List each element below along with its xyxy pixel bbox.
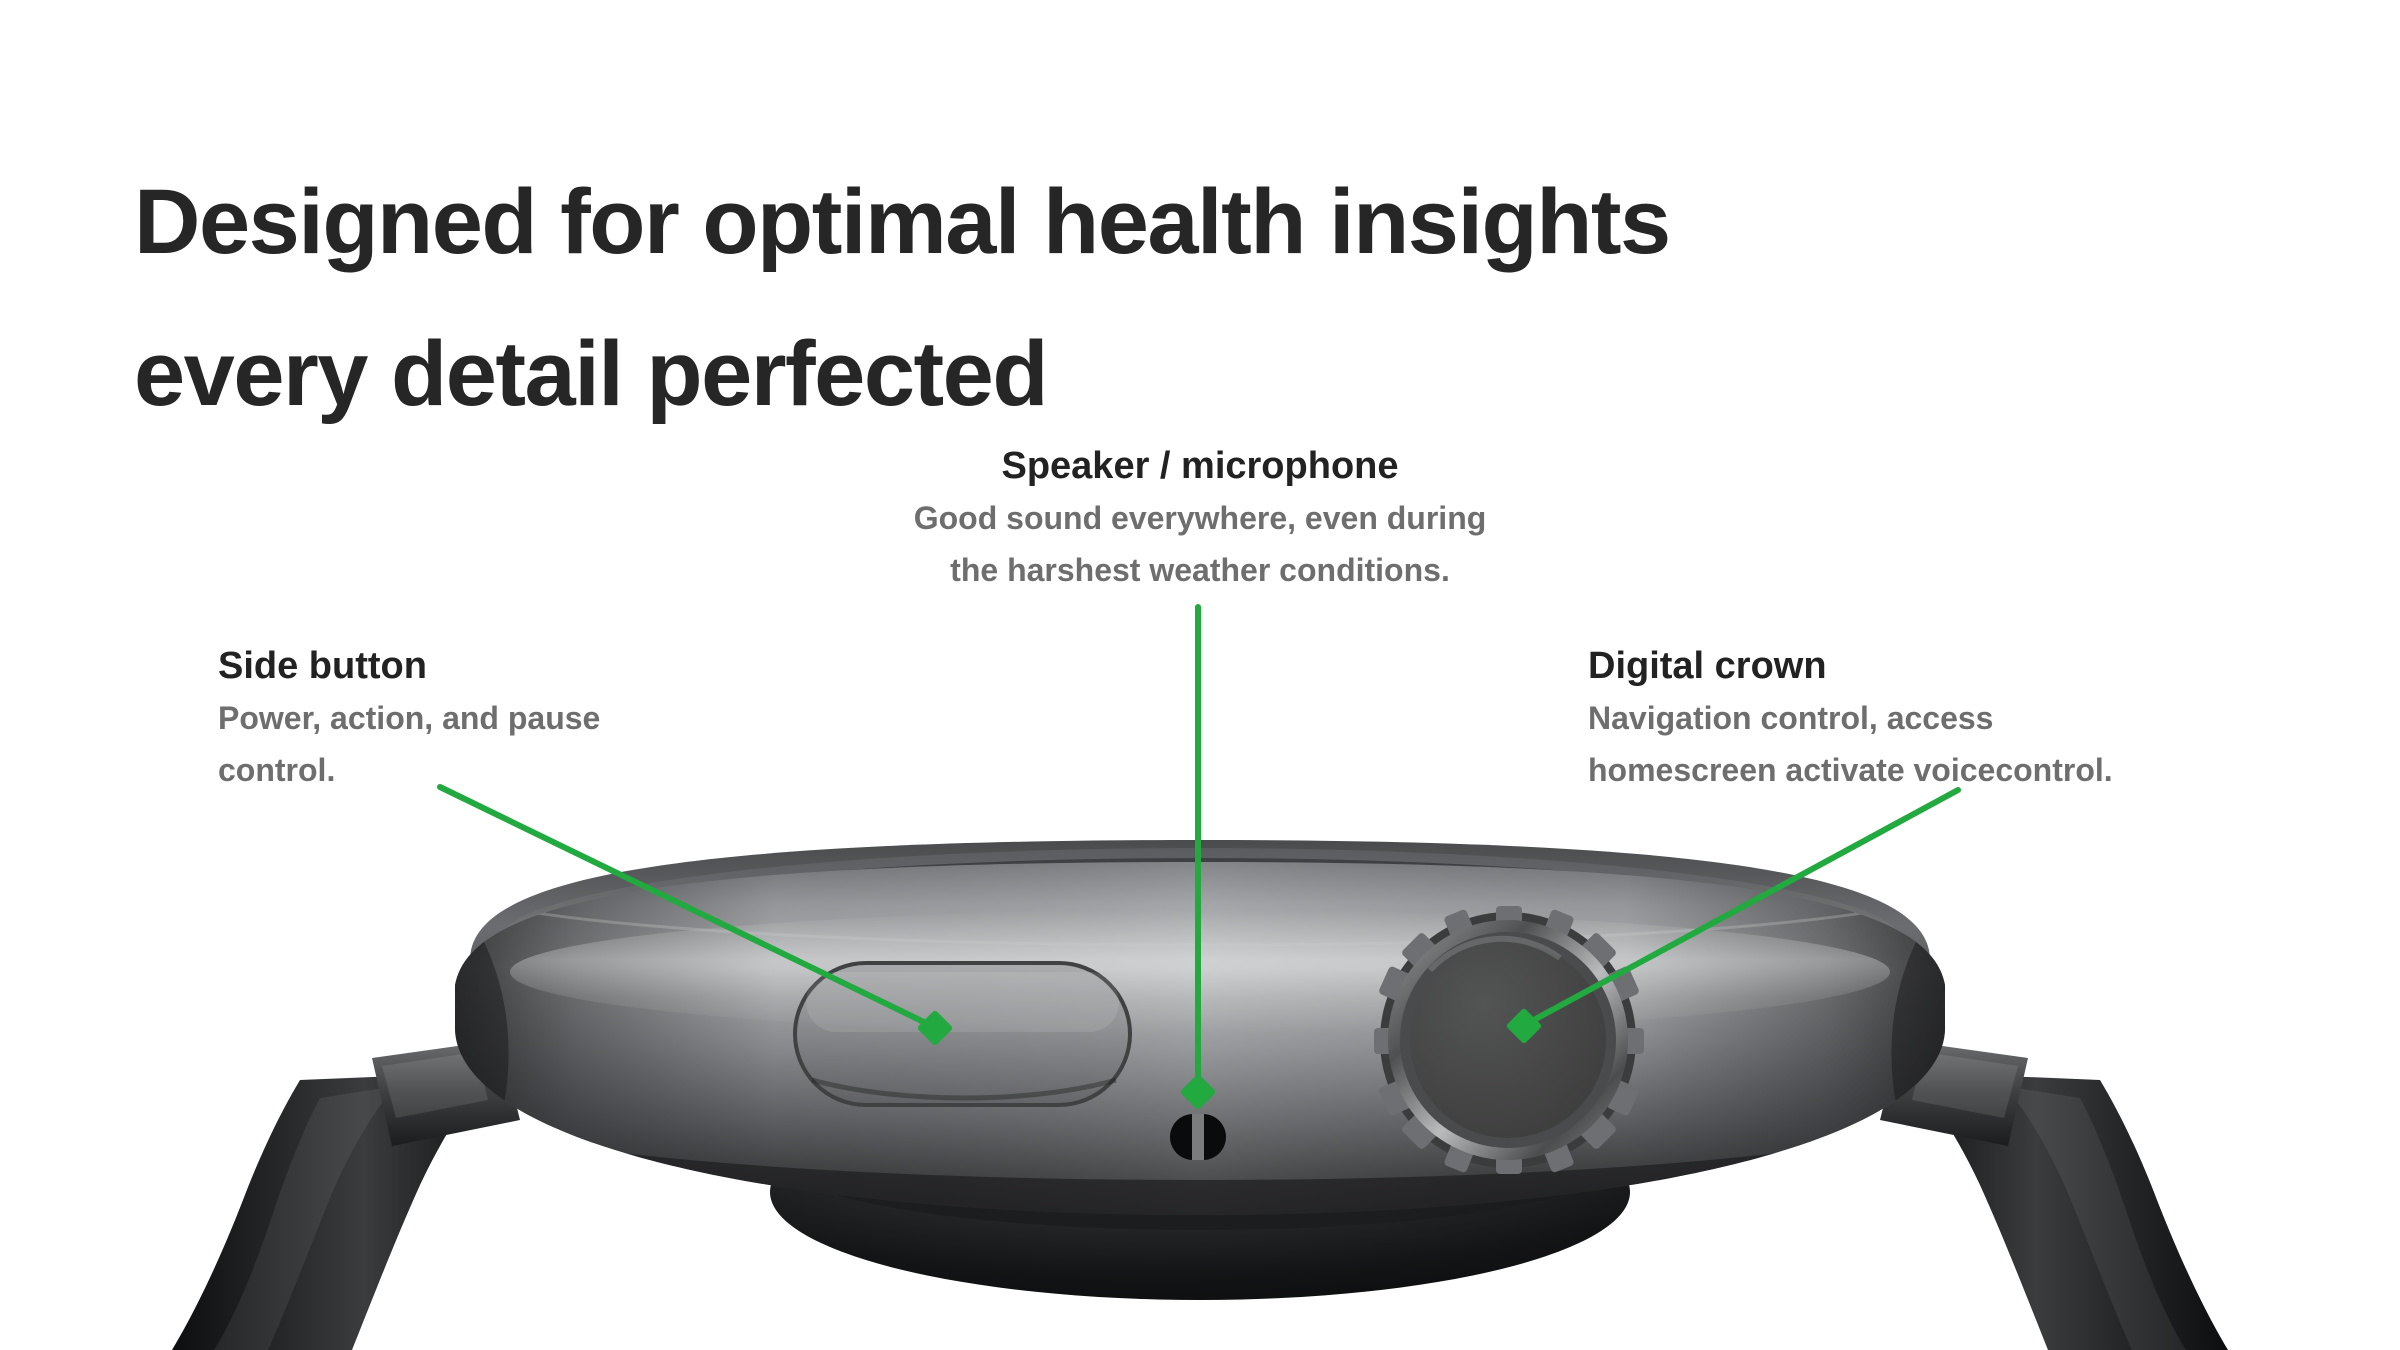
speaker-port-divider [1192, 1114, 1204, 1160]
callout-side-button-description-line-1: Power, action, and pause [218, 692, 858, 744]
speaker-port [1170, 1114, 1226, 1160]
case-gloss-highlight [510, 910, 1890, 1034]
callout-speaker-description-line-1: Good sound everywhere, even during [770, 492, 1630, 544]
callout-digital-crown-description: Navigation control, access homescreen ac… [1588, 692, 2308, 796]
callout-digital-crown-description-line-2: homescreen activate voicecontrol. [1588, 744, 2308, 796]
digital-crown[interactable] [1374, 906, 1644, 1174]
product-feature-callout-page: Designed for optimal health insights eve… [0, 0, 2400, 1350]
callout-digital-crown: Digital crown Navigation control, access… [1588, 640, 2308, 796]
callout-side-button-description: Power, action, and pause control. [218, 692, 858, 796]
case-body-shading [440, 850, 1960, 1230]
digital-crown-face[interactable] [1410, 942, 1606, 1138]
callout-speaker-title: Speaker / microphone [770, 440, 1630, 492]
side-button[interactable] [795, 963, 1130, 1105]
callout-side-button-title: Side button [218, 640, 858, 692]
callout-speaker-description: Good sound everywhere, even during the h… [770, 492, 1630, 596]
callout-digital-crown-title: Digital crown [1588, 640, 2308, 692]
side-button-highlight [806, 972, 1119, 1032]
callout-speaker-description-line-2: the harshest weather conditions. [770, 544, 1630, 596]
callout-speaker-microphone: Speaker / microphone Good sound everywhe… [770, 440, 1630, 596]
callout-side-button: Side button Power, action, and pause con… [218, 640, 858, 796]
callout-side-button-description-line-2: control. [218, 744, 858, 796]
callout-digital-crown-description-line-1: Navigation control, access [1588, 692, 2308, 744]
